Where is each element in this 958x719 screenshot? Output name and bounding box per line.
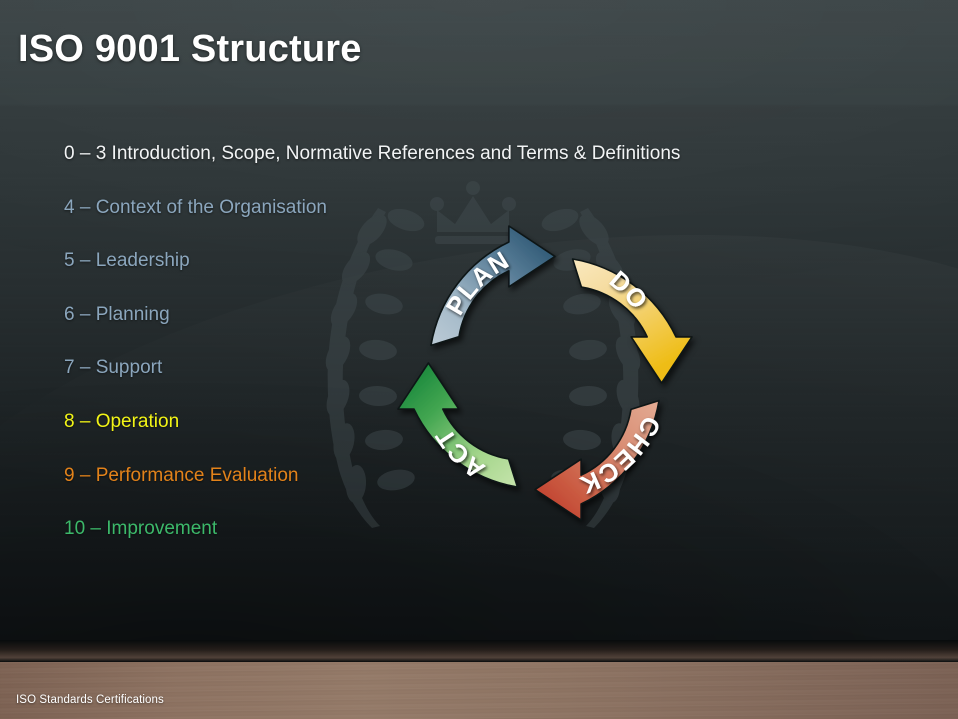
clause-item-10: 10 – Improvement	[64, 519, 744, 573]
page-title: ISO 9001 Structure	[18, 28, 362, 71]
slide-canvas: ISO 9001 Structure 0 – 3 Introduction, S…	[0, 0, 958, 719]
footer-label: ISO Standards Certifications	[16, 694, 164, 706]
pdca-cycle-diagram: PLAN DO CHECK ACT	[395, 223, 695, 523]
pdca-segment-act	[398, 363, 517, 487]
pdca-segment-plan	[431, 226, 555, 345]
clause-item-0: 0 – 3 Introduction, Scope, Normative Ref…	[64, 144, 744, 198]
footer-wood-band	[0, 662, 958, 719]
pdca-label-check: CHECK	[575, 412, 666, 499]
pdca-label-plan: PLAN	[441, 246, 515, 320]
